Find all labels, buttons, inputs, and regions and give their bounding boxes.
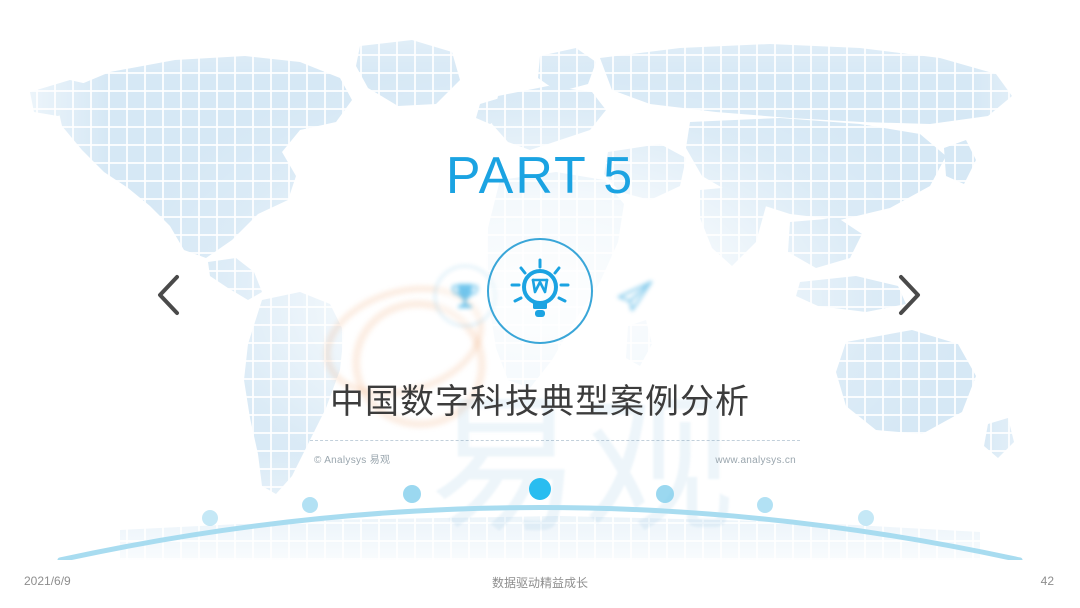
footer-page-number: 42 [1041, 574, 1054, 588]
paper-plane-icon [615, 278, 655, 314]
slide-footer: 2021/6/9 数据驱动精益成长 42 [0, 560, 1080, 608]
lightbulb-icon-slot[interactable] [487, 238, 593, 344]
website-text[interactable]: www.analysys.cn [715, 455, 796, 466]
copyright-text: © Analysys 易观 [314, 451, 390, 466]
footer-tagline: 数据驱动精益成长 [0, 574, 1080, 591]
attribution-block: © Analysys 易观 www.analysys.cn [310, 440, 800, 466]
slide-subtitle: 中国数字科技典型案例分析 [0, 374, 1080, 423]
attribution-divider [310, 440, 800, 442]
trophy-icon [448, 279, 482, 313]
lightbulb-icon [509, 258, 571, 324]
paper-plane-icon-slot[interactable] [602, 263, 668, 329]
part-title: PART 5 [0, 146, 1080, 206]
section-icon-cluster [0, 238, 1080, 354]
slide-canvas: 易观 PART 5 [0, 0, 1080, 608]
